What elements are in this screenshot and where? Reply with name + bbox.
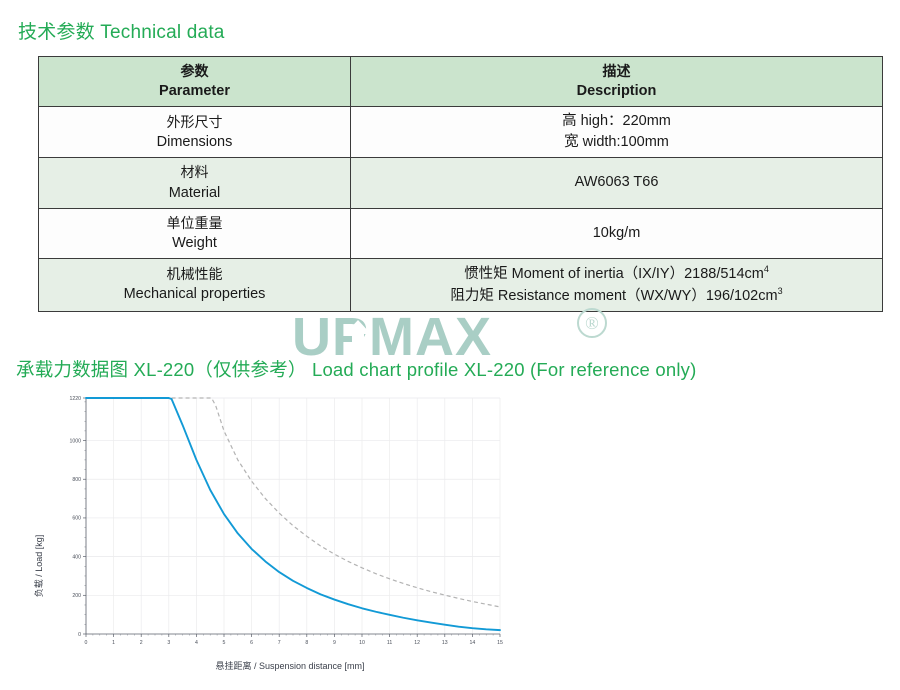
chart-x-axis-label: 悬挂距离 / Suspension distance [mm] — [215, 660, 364, 671]
svg-text:12: 12 — [414, 640, 420, 646]
cell-description-weight-line1: 10kg/m — [357, 223, 876, 244]
svg-text:600: 600 — [72, 516, 81, 522]
cell-parameter-mechanical-en: Mechanical properties — [45, 284, 344, 305]
svg-text:1220: 1220 — [69, 396, 81, 402]
technical-data-heading: 技术参数 Technical data — [18, 17, 225, 44]
svg-text:6: 6 — [250, 640, 253, 646]
column-header-description: 描述 Description — [351, 57, 883, 107]
load-chart-heading-cn: 承载力数据图 XL-220（仅供参考） — [16, 359, 307, 380]
column-header-parameter-cn: 参数 — [45, 61, 344, 81]
cell-description-weight: 10kg/m — [351, 208, 883, 258]
table-row: 单位重量 Weight 10kg/m — [39, 208, 883, 258]
chart-background — [28, 386, 508, 674]
cell-parameter-material-en: Material — [45, 183, 344, 204]
technical-data-table: 参数 Parameter 描述 Description 外形尺寸 Dimensi… — [38, 56, 883, 312]
svg-text:10: 10 — [359, 640, 365, 646]
load-chart: 020040060080010001220 012345678910111213… — [28, 386, 508, 674]
column-header-parameter-en: Parameter — [45, 81, 344, 102]
cell-parameter-mechanical-cn: 机械性能 — [45, 264, 344, 284]
cell-description-dimensions: 高 high：220mm 宽 width:100mm — [351, 107, 883, 158]
registered-trademark-icon: ® — [578, 309, 606, 337]
svg-text:800: 800 — [72, 477, 81, 483]
svg-text:4: 4 — [195, 640, 198, 646]
cell-parameter-dimensions-en: Dimensions — [45, 132, 344, 153]
cell-parameter-mechanical: 机械性能 Mechanical properties — [39, 258, 351, 311]
technical-data-heading-cn: 技术参数 — [18, 22, 95, 43]
column-header-description-cn: 描述 — [357, 61, 876, 81]
svg-text:15: 15 — [497, 640, 503, 646]
svg-text:9: 9 — [333, 640, 336, 646]
table-row: 外形尺寸 Dimensions 高 high：220mm 宽 width:100… — [39, 107, 883, 158]
svg-text:5: 5 — [223, 640, 226, 646]
column-header-parameter: 参数 Parameter — [39, 57, 351, 107]
up-arrow-icon — [345, 320, 371, 356]
technical-data-heading-en: Technical data — [100, 22, 224, 43]
cell-parameter-weight-en: Weight — [45, 233, 344, 254]
cell-parameter-material-cn: 材料 — [45, 162, 344, 182]
svg-text:2: 2 — [140, 640, 143, 646]
cell-parameter-dimensions-cn: 外形尺寸 — [45, 112, 344, 132]
load-chart-heading: 承载力数据图 XL-220（仅供参考） Load chart profile X… — [16, 356, 696, 382]
svg-text:1: 1 — [112, 640, 115, 646]
load-chart-heading-en: Load chart profile XL-220 (For reference… — [312, 359, 697, 380]
table-header-row: 参数 Parameter 描述 Description — [39, 57, 883, 107]
cell-description-material: AW6063 T66 — [351, 158, 883, 208]
svg-text:0: 0 — [85, 640, 88, 646]
registered-mark-glyph: ® — [585, 313, 599, 333]
cell-description-material-line1: AW6063 T66 — [357, 172, 876, 193]
cell-description-mechanical-line2: 阻力矩 Resistance moment（WX/WY）196/102cm3 — [357, 285, 876, 307]
svg-text:7: 7 — [278, 640, 281, 646]
cell-parameter-material: 材料 Material — [39, 158, 351, 208]
svg-text:0: 0 — [78, 632, 81, 638]
cell-description-mechanical-line1: 惯性矩 Moment of inertia（IX/IY）2188/514cm4 — [357, 263, 876, 285]
svg-text:200: 200 — [72, 593, 81, 599]
column-header-description-en: Description — [357, 81, 876, 102]
cell-parameter-weight: 单位重量 Weight — [39, 208, 351, 258]
svg-text:14: 14 — [470, 640, 476, 646]
svg-text:13: 13 — [442, 640, 448, 646]
table-row: 材料 Material AW6063 T66 — [39, 158, 883, 208]
cell-description-dimensions-line1: 高 high：220mm — [357, 111, 876, 132]
moment-of-inertia-unit-exponent: 4 — [764, 264, 769, 274]
cell-parameter-dimensions: 外形尺寸 Dimensions — [39, 107, 351, 158]
resistance-moment-unit-exponent: 3 — [778, 286, 783, 296]
svg-text:11: 11 — [387, 640, 392, 646]
moment-of-inertia-text: 惯性矩 Moment of inertia（IX/IY）2188/514cm — [464, 266, 764, 282]
svg-text:1000: 1000 — [69, 438, 81, 444]
cell-description-mechanical: 惯性矩 Moment of inertia（IX/IY）2188/514cm4 … — [351, 258, 883, 311]
resistance-moment-text: 阻力矩 Resistance moment（WX/WY）196/102cm — [450, 288, 777, 304]
chart-y-axis-label: 负载 / Load [kg] — [33, 535, 44, 598]
svg-text:3: 3 — [167, 640, 170, 646]
svg-text:400: 400 — [72, 554, 81, 560]
cell-parameter-weight-cn: 单位重量 — [45, 213, 344, 233]
svg-text:8: 8 — [305, 640, 308, 646]
cell-description-dimensions-line2: 宽 width:100mm — [357, 132, 876, 153]
table-row: 机械性能 Mechanical properties 惯性矩 Moment of… — [39, 258, 883, 311]
